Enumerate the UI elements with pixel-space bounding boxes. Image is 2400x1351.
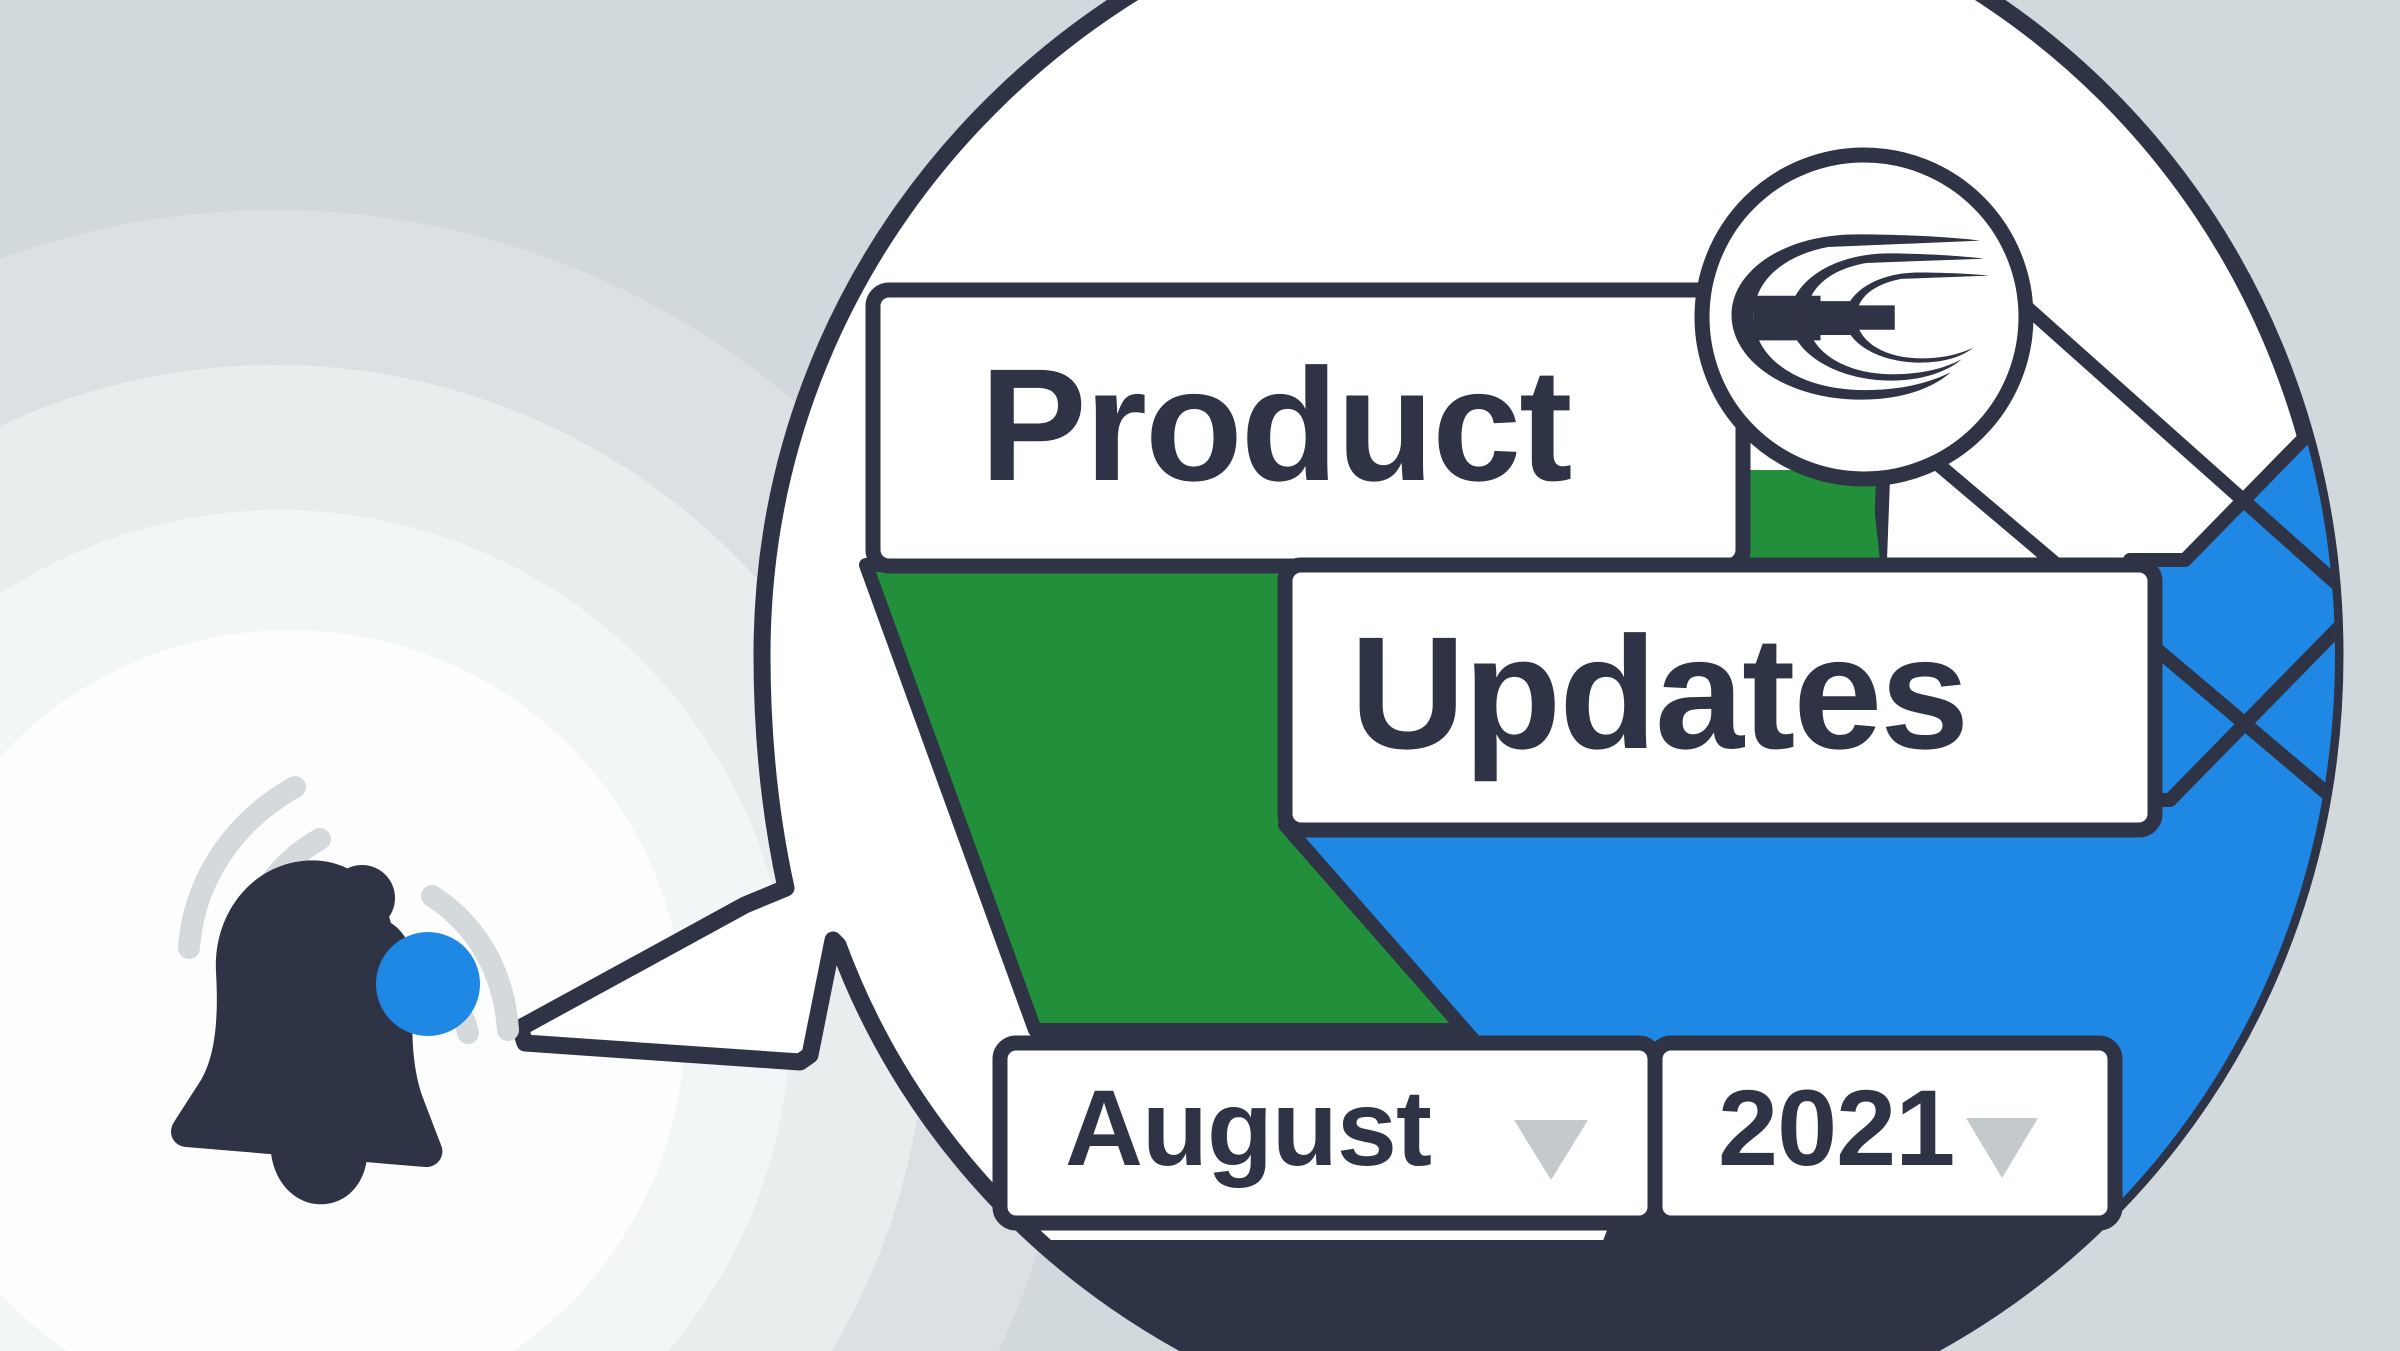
- year-dropdown-value: 2021: [1718, 1067, 1954, 1188]
- month-dropdown[interactable]: August: [1000, 1043, 1655, 1223]
- year-dropdown[interactable]: 2021: [1655, 1043, 2115, 1223]
- title-plate-updates: Updates: [1285, 565, 2155, 830]
- brand-logo-badge[interactable]: [1702, 155, 2026, 479]
- month-dropdown-value: August: [1065, 1067, 1431, 1188]
- product-title-text: Product: [980, 335, 1571, 514]
- product-updates-illustration: Product Updates August 2021: [0, 0, 2400, 1351]
- banner-canvas: Product Updates August 2021: [0, 0, 2400, 1351]
- title-plate-product: Product: [873, 290, 1743, 566]
- updates-title-text: Updates: [1350, 603, 1967, 782]
- unread-dot: [376, 932, 480, 1036]
